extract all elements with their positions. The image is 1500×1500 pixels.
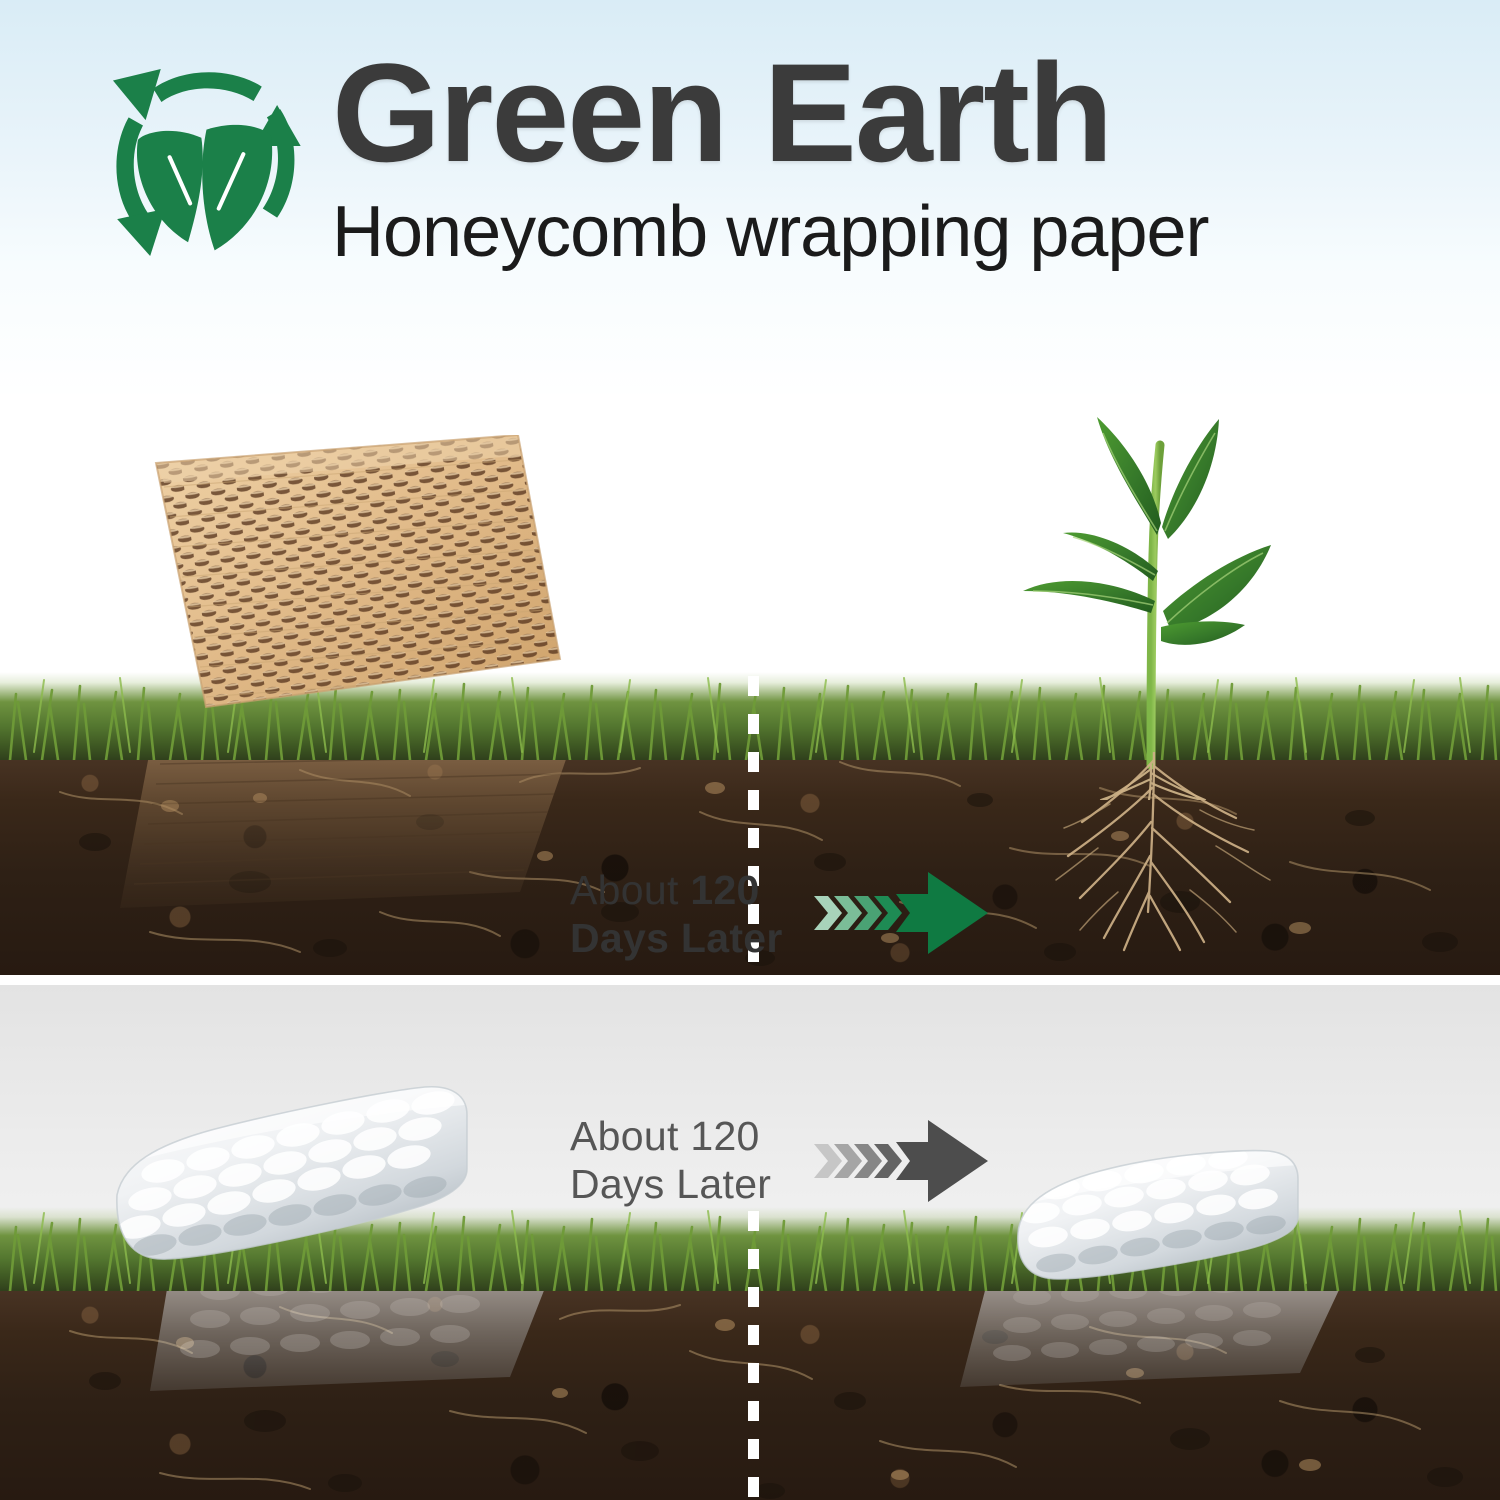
caption-line2-top: Days Later — [570, 914, 783, 962]
honeycomb-paper-panel: About 120 Days Later — [0, 400, 1500, 975]
right-arrow-chevrons-icon-green — [812, 870, 990, 956]
page-title: Green Earth — [332, 43, 1500, 183]
brand-row: Green Earth Honeycomb wrapping paper — [100, 55, 1420, 285]
right-arrow-chevrons-icon-gray — [812, 1118, 990, 1204]
caption-days-value-bottom: 120 — [690, 1113, 759, 1159]
honeycomb-kraft-paper-sheet — [98, 435, 563, 710]
title-column: Green Earth Honeycomb wrapping paper — [332, 43, 1500, 271]
green-seedling-plant — [1005, 405, 1315, 800]
buried-honeycomb-paper — [120, 742, 580, 912]
header-banner: Green Earth Honeycomb wrapping paper — [0, 0, 1500, 400]
plant-root-system — [1040, 752, 1340, 952]
panel-gap-strip — [0, 975, 1500, 985]
caption-prefix-top: About — [570, 867, 690, 913]
bubble-wrap-panel: About 120 Days Later — [0, 985, 1500, 1500]
infographic-page: Green Earth Honeycomb wrapping paper — [0, 0, 1500, 1500]
caption-text-top: About 120 Days Later — [570, 866, 783, 963]
plastic-bubble-wrap-roll-large — [95, 1077, 515, 1275]
caption-text-bottom: About 120 Days Later — [570, 1112, 771, 1209]
caption-prefix-bottom: About — [570, 1113, 690, 1159]
white-dashed-divider-bottom — [748, 1211, 759, 1500]
caption-block-bottom: About 120 Days Later — [570, 1112, 771, 1209]
caption-line2-bottom: Days Later — [570, 1160, 771, 1208]
caption-block-top: About 120 Days Later — [570, 866, 783, 963]
recycle-leaf-logo-icon — [100, 60, 315, 275]
page-subtitle: Honeycomb wrapping paper — [332, 195, 1500, 271]
caption-days-value-top: 120 — [690, 867, 759, 913]
plastic-bubble-wrap-roll-small — [1000, 1145, 1330, 1295]
